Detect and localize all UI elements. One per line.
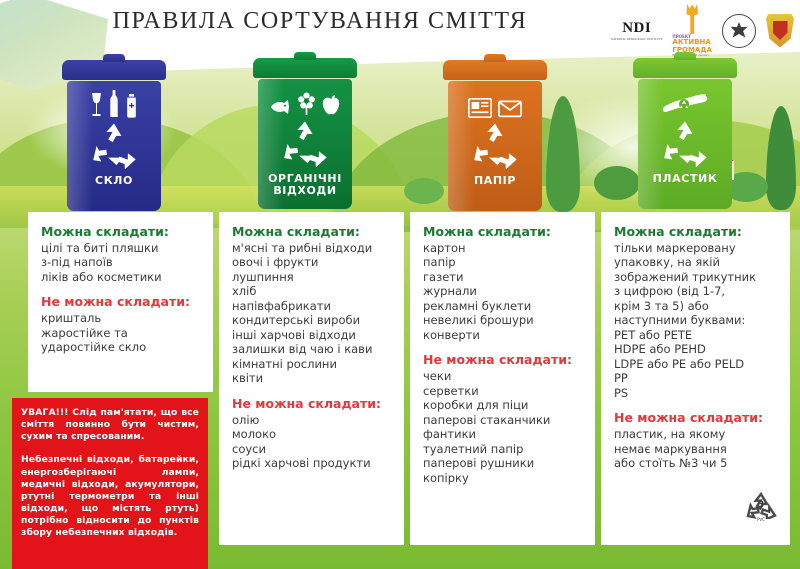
list-item: PET або PETE [614,328,778,342]
allowed-heading: Можна складати: [41,224,201,239]
plastic-bottle-icon [662,92,708,116]
recycling-symbol-icon [467,121,523,171]
pvc-number: 3 [744,500,778,510]
forbidden-heading: Не можна складати: [614,410,778,425]
bin-paper: ПАПІР [443,60,547,211]
pvc-marking-icon: 3 PVC [744,491,778,525]
bin-lid [443,60,547,80]
list-item: газети [423,270,583,284]
list-item: інші харчові відходи [232,328,392,342]
list-item: невеликі брошури [423,313,583,327]
list-item: м'ясні та рибні відходи [232,241,392,255]
bin-glass: СКЛО [62,60,166,211]
list-item: PS [614,386,778,400]
list-item: немає маркування [614,442,778,456]
allowed-heading: Можна складати: [614,224,778,239]
list-item: лушпиння [232,270,392,284]
allowed-list: тільки маркеровану упаковку, на якій зоб… [614,241,778,400]
bin-lid [253,58,357,78]
bin-organic: ОРГАНІЧНІ ВІДХОДИ [253,58,357,209]
list-item: кімнатні рослини [232,357,392,371]
list-item: овочі і фрукти [232,255,392,269]
bin-label-glass: СКЛО [95,175,133,187]
coat-of-arms-logo [766,14,794,48]
list-item: упаковку, на якій [614,255,778,269]
column-glass: Можна складати: цілі та биті пляшки з-пі… [28,212,213,392]
list-item: пластик, на якому [614,427,778,441]
list-item: олію [232,413,392,427]
seal-logo [722,14,756,48]
list-item: картон [423,241,583,255]
bush-icon [404,178,444,204]
allowed-heading: Можна складати: [423,224,583,239]
forbidden-list: олію молоко соуси рідкі харчові продукти [232,413,392,471]
ndi-logo-subtitle: NATIONAL DEMOCRATIC INSTITUTE [611,38,662,42]
bin-lid [62,60,166,80]
list-item: коробки для піци [423,398,583,412]
flower-icon [298,92,315,116]
forbidden-heading: Не можна складати: [232,396,392,411]
active-community-logo: ПРОЕКТ АКТИВНА ГРОМАДА Всеукраїнський пр… [672,4,712,57]
list-item: молоко [232,427,392,441]
list-item: цілі та биті пляшки [41,241,201,255]
list-item: журнали [423,284,583,298]
bin-plastic: ПЛАСТИК [633,58,737,209]
list-item: квіти [232,371,392,385]
list-item: крім 3 та 5) або [614,299,778,313]
column-organic: Можна складати: м'ясні та рибні відходи … [219,212,404,545]
list-item: рекламні буклети [423,299,583,313]
recycling-symbol-icon [86,121,142,171]
warning-paragraph-1: УВАГА!!! Слід пам'ятати, що все сміття п… [21,407,199,443]
forbidden-list: кришталь жаростійке та ударостійке скло [41,311,201,354]
list-item: наступними буквами: [614,313,778,327]
warning-box: УВАГА!!! Слід пам'ятати, що все сміття п… [12,398,208,569]
waste-sorting-poster: ПРАВИЛА СОРТУВАННЯ СМІТТЯ NDI NATIONAL D… [0,0,800,569]
list-item: PP [614,371,778,385]
forbidden-heading: Не можна складати: [423,352,583,367]
recycling-symbol-icon [657,119,713,169]
newspaper-icon [468,98,492,118]
allowed-heading: Можна складати: [232,224,392,239]
list-item: кришталь [41,311,201,325]
list-item: залишки від чаю і кави [232,342,392,356]
list-item: туалетний папір [423,442,583,456]
list-item: зображений трикутник [614,270,778,284]
ndi-logo: NDI NATIONAL DEMOCRATIC INSTITUTE [611,20,662,42]
wine-glass-icon [90,92,103,118]
ndi-logo-mark: NDI [622,20,651,37]
list-item: рідкі харчові продукти [232,456,392,470]
list-item: HDPE або PEHD [614,342,778,356]
bin-label-organic-line2: ВІДХОДИ [268,185,342,197]
allowed-list: м'ясні та рибні відходи овочі і фрукти л… [232,241,392,386]
forbidden-heading: Не можна складати: [41,294,201,309]
bin-label-plastic: ПЛАСТИК [653,173,718,185]
recycling-symbol-icon [277,119,333,169]
list-item: з-під напоїв [41,255,201,269]
allowed-list: картон папір газети журнали рекламні бук… [423,241,583,342]
list-item: копірку [423,471,583,485]
list-item: або стоїть №3 чи 5 [614,456,778,470]
page-title: ПРАВИЛА СОРТУВАННЯ СМІТТЯ [95,8,545,35]
list-item: кондитерські вироби [232,313,392,327]
apple-icon [321,94,341,116]
column-paper: Можна складати: картон папір газети журн… [410,212,595,545]
list-item: напівфабрикати [232,299,392,313]
jar-icon [125,94,138,118]
list-item: ударостійке скло [41,340,201,354]
forbidden-list: пластик, на якому немає маркування або с… [614,427,778,470]
logo-row: NDI NATIONAL DEMOCRATIC INSTITUTE ПРОЕКТ… [611,4,794,57]
bin-lid [633,58,737,78]
people-figure-icon [684,4,700,34]
forbidden-list: чеки серветки коробки для піци паперові … [423,369,583,485]
allowed-list: цілі та биті пляшки з-під напоїв ліків а… [41,241,201,284]
list-item: жаростійке та [41,326,201,340]
pvc-caption: PVC [744,517,778,522]
list-item: серветки [423,384,583,398]
list-item: конверти [423,328,583,342]
bin-label-organic: ОРГАНІЧНІ ВІДХОДИ [268,173,342,197]
list-item: тільки маркеровану [614,241,778,255]
list-item: з цифрою (від 1-7, [614,284,778,298]
list-item: папір [423,255,583,269]
bottle-icon [109,90,119,118]
list-item: паперові стаканчики [423,413,583,427]
column-plastic: Можна складати: тільки маркеровану упако… [601,212,790,545]
envelope-icon [498,99,522,118]
list-item: LDPE або PE або PELD [614,357,778,371]
list-item: чеки [423,369,583,383]
list-item: ліків або косметики [41,270,201,284]
warning-paragraph-2: Небезпечні відходи, батарейки, енергозбе… [21,454,199,539]
list-item: соуси [232,442,392,456]
list-item: хліб [232,284,392,298]
list-item: фантики [423,427,583,441]
list-item: паперові рушники [423,456,583,470]
bin-label-paper: ПАПІР [474,175,516,187]
fish-icon [270,98,292,116]
